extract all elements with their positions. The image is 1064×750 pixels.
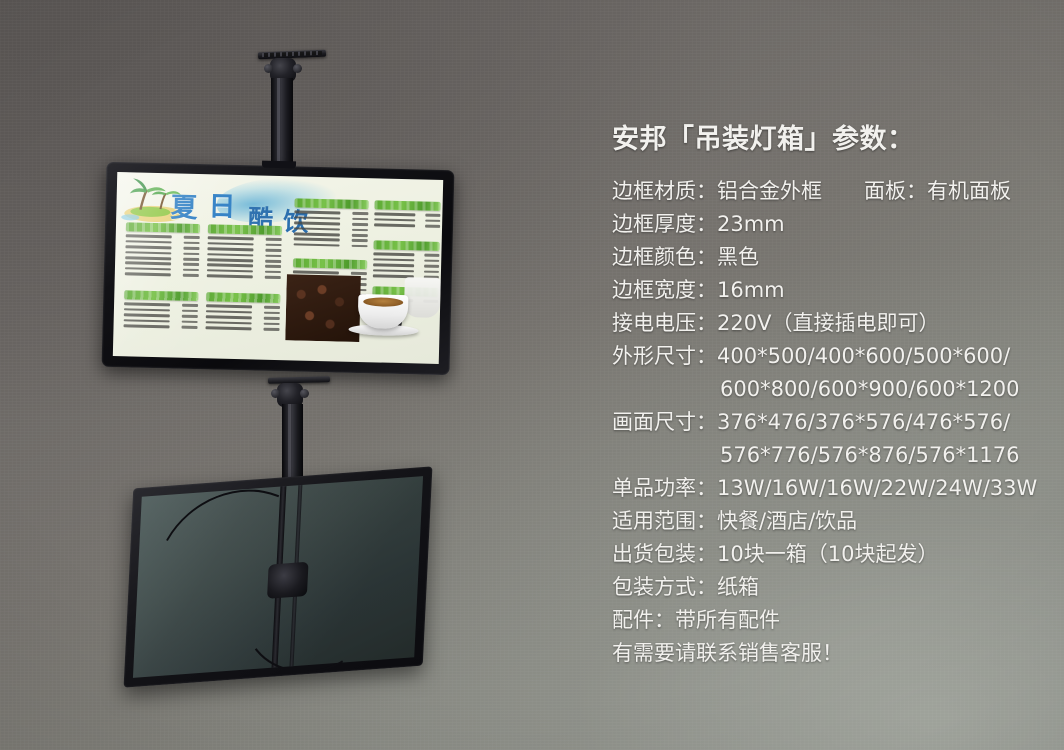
menu-section (294, 198, 369, 249)
section-rows (207, 235, 282, 280)
menu-row (294, 242, 368, 249)
section-header-banner (374, 200, 440, 211)
swivel-knob-left (264, 64, 273, 73)
menu-section (125, 222, 200, 278)
spec-line: 画面尺寸：376*476/376*576/476*576/ (612, 406, 1042, 439)
swivel-knob-lower-right (300, 389, 309, 398)
menu-row (125, 271, 199, 278)
menu-row (205, 325, 279, 332)
section-header-banner (208, 224, 282, 235)
rear-mount-clamp (267, 562, 309, 599)
section-header-banner (294, 198, 368, 209)
spec-line: 包装方式：纸箱 (612, 571, 1042, 604)
section-rows (294, 209, 369, 249)
lightbox-rear-panel (124, 466, 433, 687)
section-header-banner (206, 292, 280, 303)
section-header-banner (293, 258, 367, 269)
spec-line: 外形尺寸：400*500/400*600/500*600/ (612, 340, 1042, 373)
section-header-banner (124, 290, 198, 301)
section-rows (125, 233, 200, 278)
spec-title: 安邦「吊装灯箱」参数： (612, 126, 1042, 153)
spec-line: 边框厚度：23mm (612, 208, 1042, 241)
spec-line: 边框宽度：16mm (612, 274, 1042, 307)
spec-line: 600*800/600*900/600*1200 (612, 373, 1042, 406)
lightbox-bottom-bracket-nub (262, 161, 296, 169)
coffee-beans (285, 274, 361, 342)
section-rows (374, 211, 440, 229)
menu-section (207, 224, 282, 280)
spec-line: 接电电压：220V（直接插电即可） (612, 307, 1042, 340)
menu-row (374, 222, 440, 229)
headline-char-2: 日 (208, 184, 236, 224)
section-header-banner (373, 240, 439, 251)
spec-line: 单品功率：13W/16W/16W/22W/24W/33W (612, 472, 1042, 505)
spec-line: 出货包装：10块一箱（10块起发） (612, 538, 1042, 571)
coffee-cup-back (404, 277, 441, 318)
headline-char-1: 夏 (170, 185, 198, 225)
menu-row (123, 323, 197, 330)
product-image-canvas: 夏 日 酷 饮 (0, 0, 1064, 750)
menu-section (205, 292, 280, 332)
section-header-banner (126, 222, 200, 233)
menu-row (207, 273, 281, 280)
spec-line: 适用范围：快餐/酒店/饮品 (612, 505, 1042, 538)
spec-line-list: 边框材质：铝合金外框 面板：有机面板 边框厚度：23mm 边框颜色：黑色 边框宽… (612, 175, 1042, 670)
spec-line: 有需要请联系销售客服！ (612, 637, 1042, 670)
menu-section (374, 200, 441, 229)
spec-text-block: 安邦「吊装灯箱」参数： 边框材质：铝合金外框 面板：有机面板 边框厚度：23mm… (612, 126, 1042, 670)
section-rows (205, 303, 280, 332)
menu-section (123, 290, 198, 330)
lightbox-front-panel: 夏 日 酷 饮 (102, 162, 455, 375)
spec-line: 边框颜色：黑色 (612, 241, 1042, 274)
coffee-photo (285, 268, 441, 344)
spec-line: 边框材质：铝合金外框 面板：有机面板 (612, 175, 1042, 208)
lightbox-menu-face: 夏 日 酷 饮 (113, 172, 443, 364)
section-rows (123, 301, 198, 330)
spec-line: 576*776/576*876/576*1176 (612, 439, 1042, 472)
swivel-knob-lower-left (271, 389, 280, 398)
spec-line: 配件：带所有配件 (612, 604, 1042, 637)
swivel-knob-right (293, 64, 302, 73)
